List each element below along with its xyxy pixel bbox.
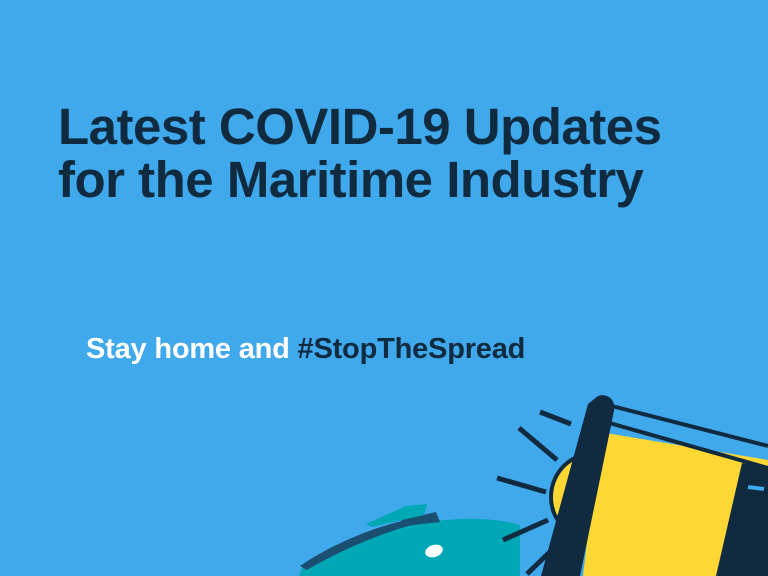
subheading-plain-text: Stay home and [86, 333, 298, 365]
text-layer: Latest COVID-19 Updates for the Maritime… [0, 0, 768, 576]
subheading: Stay home and #StopTheSpread [86, 330, 525, 368]
page-title-line-2: for the Maritime Industry [58, 153, 718, 206]
subheading-hashtag: #StopTheSpread [298, 333, 526, 365]
poster-canvas: Latest COVID-19 Updates for the Maritime… [0, 0, 768, 576]
page-title-line-1: Latest COVID-19 Updates [58, 100, 718, 153]
page-title: Latest COVID-19 Updates for the Maritime… [58, 100, 718, 206]
